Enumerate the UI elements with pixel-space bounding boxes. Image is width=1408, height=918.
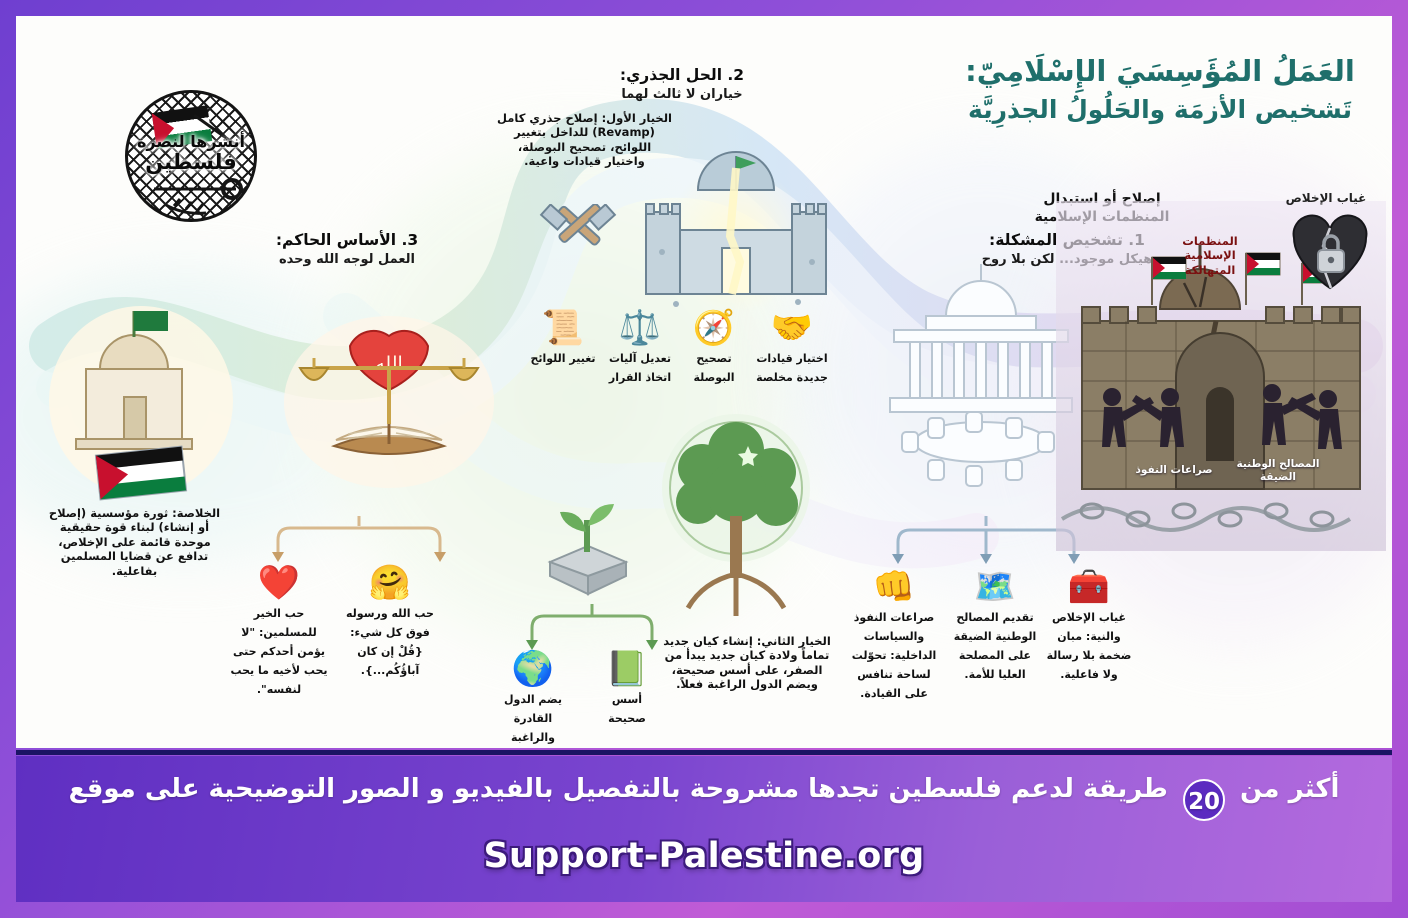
branch-connector <box>512 604 672 650</box>
root-solution-subtitle: خياران لا ثالث لهما <box>572 87 792 102</box>
governing-basis-subtitle: العمل لوجه الله وحده <box>242 252 452 267</box>
logo-text: أنشرها لنصرة فلسطين <box>128 133 254 174</box>
icon-label: تصحيح البوصلة <box>693 352 734 384</box>
label-dome: المنظمات الإسلامية المتهالكة <box>1164 234 1256 277</box>
broken-heart-lock-icon <box>1282 206 1378 302</box>
compass-icon: 🧭 <box>680 309 748 347</box>
icon-label: تغيير اللوائح <box>530 352 595 365</box>
icon-tile-handshake: 🤝 اختيار قيادات جديدة مخلصة <box>752 309 832 385</box>
icon-tile-national-interests: 🗺️ تقديم المصالح الوطنية الضيقة على المص… <box>952 568 1038 682</box>
icon-label: غياب الإخلاص والنية: مبان ضخمة بلا رسالة… <box>1047 611 1132 681</box>
icon-tile-love-good: ❤️ حب الخير للمسلمين: "لا يؤمن أحدكم حتى… <box>228 564 330 697</box>
divided-world-map-icon: 🗺️ <box>952 568 1038 606</box>
conclusion-text: الخلاصة: ثورة مؤسسية (إصلاح أو إنشاء) لب… <box>42 506 227 578</box>
handshake-heart-icon: 🤝 <box>752 309 832 347</box>
icon-label: اختيار قيادات جديدة مخلصة <box>756 352 828 384</box>
section-root-solution-heading: 2. الحل الجذري: خياران لا ثالث لهما <box>572 66 792 102</box>
label-national-interests: المصالح الوطنية الضيقة <box>1228 458 1328 484</box>
infographic-canvas: أنشرها لنصرة فلسطين العَمَلُ المُؤَسِسَي… <box>16 16 1392 748</box>
globe-icon: 🌍 <box>492 650 574 688</box>
icon-label: صراعات النفوذ والسياسات الداخلية: تحوّلت… <box>852 611 937 700</box>
bottom-banner: أكثر من 20 طريقة لدعم فلسطين تجدها مشروح… <box>16 756 1392 902</box>
fists-crown-icon: 👊 <box>846 568 942 606</box>
sprout-on-block-icon <box>528 486 648 596</box>
empty-treasure-chest-icon: 🧰 <box>1046 568 1132 606</box>
heart-quran-scale-icon: الله <box>274 306 504 496</box>
title-line-2: تَشخيص الأزمَة والحَلُولُ الجذرِيَّة <box>950 92 1370 128</box>
banner-part-2: طريقة لدعم فلسطين تجدها مشروحة بالتفصيل … <box>69 774 1168 804</box>
icon-tile-globe: 🌍 يضم الدول القادرة والراغبة <box>492 650 574 745</box>
heart-arrow-icon: ❤️ <box>228 564 330 602</box>
crescent-tree-icon <box>636 406 836 636</box>
basis-connector <box>254 516 464 562</box>
logo-line-1: أنشرها لنصرة <box>128 133 254 151</box>
icon-tile-love-allah: 🤗 حب الله ورسوله فوق كل شيء: {قُلْ إن كا… <box>338 564 442 678</box>
banner-top-rule <box>16 750 1392 755</box>
icon-tile-scroll: 📜 تغيير اللوائح <box>528 309 598 366</box>
label-power-struggles: صراعات النفوذ <box>1134 464 1214 477</box>
icon-tile-power-struggles: 👊 صراعات النفوذ والسياسات الداخلية: تحوّ… <box>846 568 942 701</box>
logo-line-2: فلسطين <box>128 151 254 174</box>
icon-tile-compass: 🧭 تصحيح البوصلة <box>680 309 748 385</box>
icon-label: حب الخير للمسلمين: "لا يؤمن أحدكم حتى يح… <box>230 607 327 696</box>
website-url[interactable]: Support-Palestine.org <box>16 836 1392 876</box>
banner-part-1: أكثر من <box>1240 774 1339 804</box>
embrace-icon: 🤗 <box>338 564 442 602</box>
option-two-text: الخيار الثاني: إنشاء كيان جديد تماماً ول… <box>662 634 832 692</box>
banner-text-row: أكثر من 20 طريقة لدعم فلسطين تجدها مشروح… <box>16 774 1392 821</box>
banner-count-badge: 20 <box>1183 779 1225 821</box>
icon-label: تقديم المصالح الوطنية الضيقة على المصلحة… <box>954 611 1036 681</box>
crossed-hammers-icon <box>533 204 623 280</box>
label-heart-lock: غياب الإخلاص <box>1278 191 1374 206</box>
icon-label: حب الله ورسوله فوق كل شيء: {قُلْ إن كان … <box>346 607 434 677</box>
page-title: العَمَلُ المُؤَسِسَيَ الإِسْلَامِيّ: تَش… <box>950 50 1370 128</box>
aqsa-dome-flag-icon <box>46 291 236 501</box>
icon-tile-absent-sincerity: 🧰 غياب الإخلاص والنية: مبان ضخمة بلا رسا… <box>1046 568 1132 682</box>
section-governing-basis-heading: 3. الأساس الحاكم: العمل لوجه الله وحده <box>242 231 452 267</box>
scroll-pencil-icon: 📜 <box>528 309 598 347</box>
icon-tile-scales: ⚖️ تعديل آليات اتخاذ القرار <box>604 309 676 385</box>
campaign-logo: أنشرها لنصرة فلسطين <box>125 90 257 222</box>
icon-tile-quran: 📗 أسس صحيحة <box>592 650 662 726</box>
quran-in-hands-icon: 📗 <box>592 650 662 688</box>
icon-label: أسس صحيحة <box>608 693 646 725</box>
root-solution-title: 2. الحل الجذري: <box>572 66 792 84</box>
governing-basis-title: 3. الأساس الحاكم: <box>242 231 452 249</box>
icon-label: تعديل آليات اتخاذ القرار <box>609 352 671 384</box>
title-line-1: العَمَلُ المُؤَسِسَيَ الإِسْلَامِيّ: <box>950 50 1370 92</box>
icon-label: يضم الدول القادرة والراغبة <box>504 693 562 744</box>
cracked-institution-building-icon <box>636 144 836 314</box>
scales-icon: ⚖️ <box>604 309 676 347</box>
